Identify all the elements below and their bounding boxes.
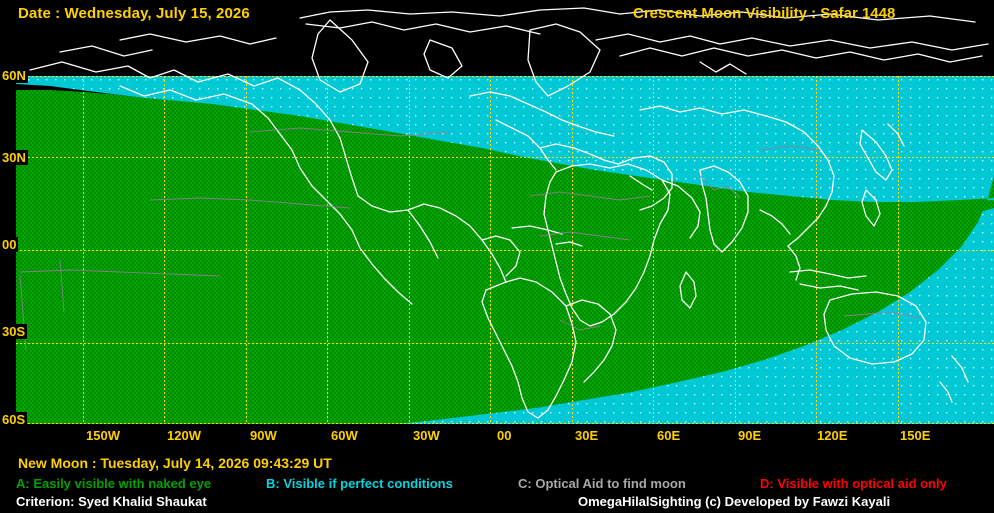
world-map bbox=[16, 76, 994, 424]
legend-item-c: C: Optical Aid to find moon bbox=[518, 476, 686, 491]
lon-label-60W: 60W bbox=[331, 428, 358, 443]
lon-label-90W: 90W bbox=[250, 428, 277, 443]
criterion-label: Criterion: Syed Khalid Shaukat bbox=[16, 494, 207, 509]
lon-label-30W: 30W bbox=[413, 428, 440, 443]
lat-label-60N: 60N bbox=[0, 68, 28, 83]
lat-label-30N: 30N bbox=[0, 150, 28, 165]
brand-label: OmegaHilalSighting (c) Developed by Fawz… bbox=[578, 494, 890, 509]
lon-label-60E: 60E bbox=[657, 428, 680, 443]
crescent-moon-visibility-map: Date : Wednesday, July 15, 2026 Crescent… bbox=[0, 0, 994, 513]
legend-item-a: A: Easily visible with naked eye bbox=[16, 476, 211, 491]
date-label: Date : Wednesday, July 15, 2026 bbox=[18, 5, 250, 22]
lon-label-30E: 30E bbox=[575, 428, 598, 443]
header: Date : Wednesday, July 15, 2026 Crescent… bbox=[0, 0, 994, 30]
lat-label-60S: 60S bbox=[0, 412, 27, 427]
legend-item-b: B: Visible if perfect conditions bbox=[266, 476, 453, 491]
lon-label-120W: 120W bbox=[167, 428, 201, 443]
lon-label-150W: 150W bbox=[86, 428, 120, 443]
new-moon-label: New Moon : Tuesday, July 14, 2026 09:43:… bbox=[18, 455, 332, 471]
page-title: Crescent Moon Visibility : Safar 1448 bbox=[633, 5, 895, 22]
lat-label-00: 00 bbox=[0, 237, 18, 252]
lat-label-30S: 30S bbox=[0, 324, 27, 339]
lon-label-00: 00 bbox=[497, 428, 511, 443]
lon-label-150E: 150E bbox=[900, 428, 930, 443]
lon-label-120E: 120E bbox=[817, 428, 847, 443]
legend-item-d: D: Visible with optical aid only bbox=[760, 476, 947, 491]
lon-label-90E: 90E bbox=[738, 428, 761, 443]
visibility-zones bbox=[16, 76, 994, 424]
